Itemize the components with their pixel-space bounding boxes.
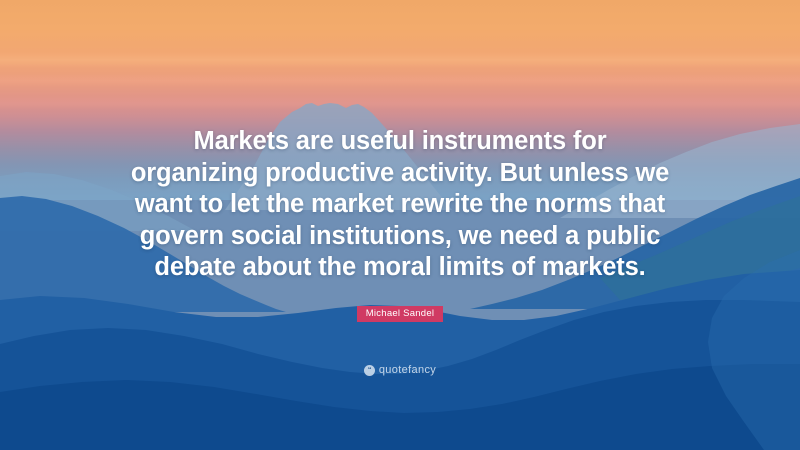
- author-name-badge[interactable]: Michael Sandel: [357, 306, 443, 322]
- quote-line: want to let the market rewrite the norms…: [0, 189, 800, 221]
- quote-line: organizing productive activity. But unle…: [0, 158, 800, 190]
- quote-wallpaper: Markets are useful instruments for organ…: [0, 0, 800, 450]
- quote-mark-glyph: “: [368, 367, 371, 374]
- quote-line: govern social institutions, we need a pu…: [0, 221, 800, 253]
- author-attribution: Michael Sandel: [0, 303, 800, 322]
- quotefancy-watermark[interactable]: “ quotefancy: [0, 364, 800, 376]
- watermark-brand-label: quotefancy: [379, 364, 436, 376]
- quote-line: Markets are useful instruments for: [0, 126, 800, 158]
- quote-line: debate about the moral limits of markets…: [0, 252, 800, 284]
- quote-text: Markets are useful instruments for organ…: [0, 126, 800, 284]
- quote-mark-logo-icon: “: [364, 365, 375, 376]
